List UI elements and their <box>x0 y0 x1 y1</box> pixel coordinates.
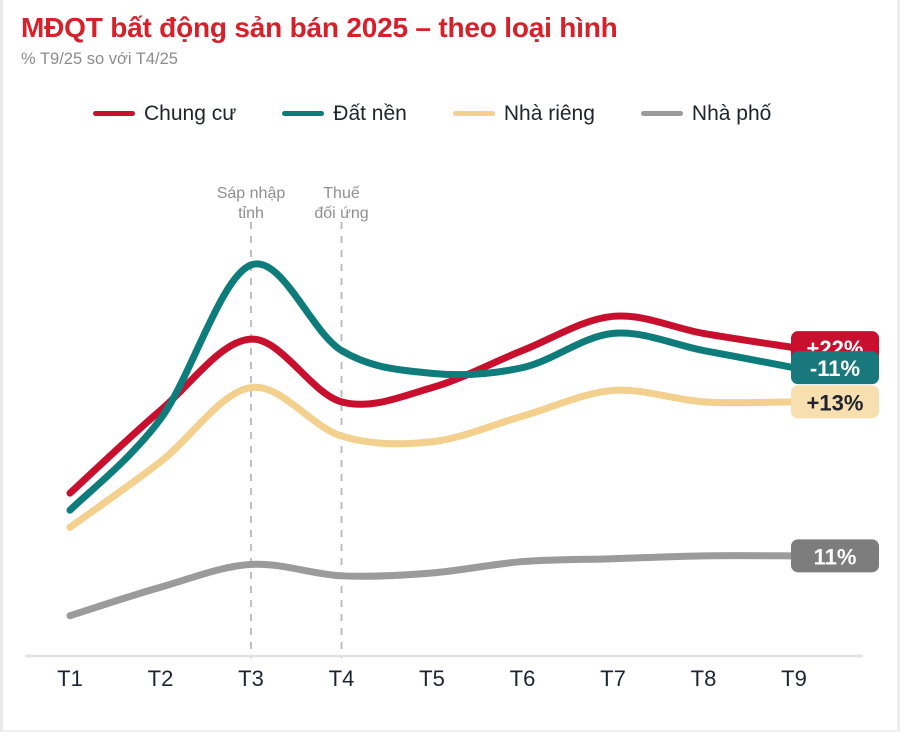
plot-area: Sáp nhậptỉnhThuếđối ứng +22%-11%+13%11% <box>3 150 900 670</box>
legend-item-chung-cu[interactable]: Chung cư <box>93 103 236 124</box>
series-layer <box>70 264 800 616</box>
line-chart-svg: Sáp nhậptỉnhThuếđối ứng +22%-11%+13%11% <box>3 150 900 670</box>
badge-value-text: 11% <box>814 544 857 569</box>
end-value-badge: -11% <box>791 351 879 384</box>
chart-header: MĐQT bất động sản bán 2025 – theo loại h… <box>21 12 881 69</box>
series-line-nhà-riêng <box>70 387 800 527</box>
end-label-layer: +22%-11%+13%11% <box>791 331 879 572</box>
badge-value-text: +13% <box>807 390 864 415</box>
legend-swatch-icon <box>93 111 135 116</box>
x-tick-label-t3: T3 <box>238 668 264 690</box>
x-axis-labels: T1T2T3T4T5T6T7T8T9 <box>3 668 900 708</box>
chart-subtitle: % T9/25 so với T4/25 <box>21 50 881 68</box>
chart-legend: Chung cư Đất nền Nhà riêng Nhà phố <box>93 103 771 124</box>
x-tick-label-t8: T8 <box>691 668 717 690</box>
x-tick-label-t4: T4 <box>329 668 355 690</box>
legend-swatch-icon <box>453 111 495 116</box>
legend-label: Nhà phố <box>692 103 771 124</box>
x-tick-label-t7: T7 <box>600 668 626 690</box>
end-value-badge: 11% <box>791 539 879 572</box>
x-tick-label-t9: T9 <box>781 668 807 690</box>
end-value-badge: +13% <box>791 385 879 418</box>
legend-item-nha-rieng[interactable]: Nhà riêng <box>453 103 595 124</box>
legend-label: Đất nền <box>333 103 407 124</box>
legend-swatch-icon <box>641 111 683 116</box>
legend-label: Nhà riêng <box>504 103 595 124</box>
legend-swatch-icon <box>282 111 324 116</box>
series-line-chung-cư <box>70 316 800 493</box>
annotation-layer: Sáp nhậptỉnhThuếđối ứng <box>217 185 369 658</box>
legend-label: Chung cư <box>144 103 236 124</box>
event-label-line2: tỉnh <box>238 205 264 222</box>
x-tick-label-t1: T1 <box>57 668 83 690</box>
badge-value-text: -11% <box>810 356 860 381</box>
event-label-line1: Sáp nhập <box>217 185 286 202</box>
event-label-line1: Thuế <box>323 185 360 202</box>
page-title: MĐQT bất động sản bán 2025 – theo loại h… <box>21 12 881 43</box>
legend-item-nha-pho[interactable]: Nhà phố <box>641 103 771 124</box>
x-tick-label-t2: T2 <box>148 668 174 690</box>
x-tick-label-t5: T5 <box>419 668 445 690</box>
series-line-nhà-phố <box>70 556 800 616</box>
event-label-line2: đối ứng <box>314 205 368 222</box>
x-tick-label-t6: T6 <box>510 668 536 690</box>
chart-page: MĐQT bất động sản bán 2025 – theo loại h… <box>0 0 900 732</box>
legend-item-dat-nen[interactable]: Đất nền <box>282 103 407 124</box>
